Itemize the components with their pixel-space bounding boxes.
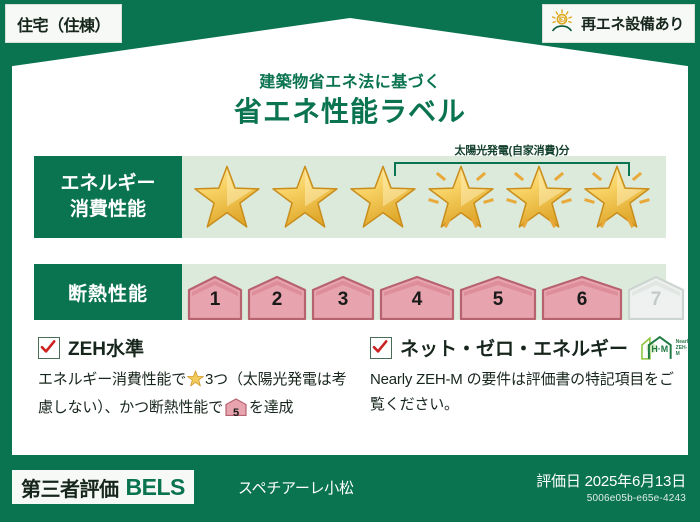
energy-performance-label-box: エネルギー 消費性能	[34, 156, 182, 238]
star-cell-4	[422, 156, 500, 238]
house-cell-2: 2	[246, 274, 308, 320]
insulation-performance-row: 断熱性能 1	[34, 264, 666, 320]
house-level-3: 3	[338, 289, 349, 311]
gold-star-icon	[271, 164, 339, 230]
criterion-zeh-star-count: 3つ	[205, 371, 228, 388]
criterion-nze-title: ネット・ゼロ・エネルギー	[400, 334, 628, 361]
insulation-label-box: 断熱性能	[34, 264, 182, 320]
gold-star-icon	[427, 164, 495, 230]
house-level-2: 2	[272, 289, 283, 311]
star-cell-2	[266, 156, 344, 238]
house-level-1: 1	[210, 289, 221, 311]
criterion-zeh-header: ZEH水準	[38, 334, 352, 361]
star-cell-1	[188, 156, 266, 238]
gold-star-icon	[187, 370, 204, 395]
insulation-label: 断熱性能	[68, 279, 148, 306]
criterion-zeh-body: エネルギー消費性能で3つ（太陽光発電は考慮しない）、かつ断熱性能で5を達成	[38, 367, 352, 420]
energy-label-line1: エネルギー	[60, 171, 155, 197]
sun-renewable-icon	[549, 8, 575, 39]
renewable-equipment-tag: 再エネ設備あり	[542, 4, 695, 43]
house-cell-1: 1	[186, 274, 244, 320]
house-level-4: 4	[412, 289, 423, 311]
label-body-panel: 建築物省エネ法に基づく 省エネ性能ラベル エネルギー 消費性能 太陽光発電(自家…	[12, 18, 688, 455]
evaluation-id: 5006e05b-e65e-4243	[536, 493, 686, 504]
house-cell-3: 3	[310, 274, 376, 320]
energy-star-track: 太陽光発電(自家消費)分	[182, 156, 666, 238]
energy-label-line2: 消費性能	[70, 197, 146, 223]
check-mark-icon	[370, 337, 392, 359]
evaluation-info: 評価日 2025年6月13日 5006e05b-e65e-4243	[536, 470, 686, 504]
house-level-5: 5	[493, 289, 504, 311]
criterion-net-zero-energy: ネット・ゼロ・エネルギー H·M Nearly ZEH-M	[370, 334, 676, 417]
star-cell-6	[578, 156, 656, 238]
criterion-zeh-text-3: を達成	[249, 399, 293, 416]
criterion-nze-header: ネット・ゼロ・エネルギー H·M Nearly ZEH-M	[370, 334, 676, 361]
gold-star-icon	[193, 164, 261, 230]
star-cell-5	[500, 156, 578, 238]
house-cell-4: 4	[378, 274, 456, 320]
gold-star-icon	[505, 164, 573, 230]
house-cell-7: 7	[626, 274, 686, 320]
energy-performance-label: 住宅（住棟） 再エネ設備あり 建築物省エネ	[0, 0, 700, 522]
category-tag-label: 住宅（住棟）	[17, 12, 110, 36]
house-level-6: 6	[577, 289, 588, 311]
evaluation-date: 評価日 2025年6月13日	[536, 470, 686, 491]
star-list	[182, 156, 666, 238]
criterion-zeh: ZEH水準 エネルギー消費性能で3つ（太陽光発電は考慮しない）、かつ断熱性能で5…	[38, 334, 352, 420]
zeh-logo-caption-2: ZEH-M	[676, 345, 692, 357]
bels-label: BELS	[126, 474, 185, 501]
house-cell-5: 5	[458, 274, 538, 320]
criterion-nze-body: Nearly ZEH-M の要件は評価書の特記項目をご覧ください。	[370, 367, 676, 417]
criterion-zeh-title: ZEH水準	[68, 334, 144, 361]
gold-star-icon	[583, 164, 651, 230]
bels-badge: 第三者評価 BELS	[12, 470, 194, 504]
svg-text:H·M: H·M	[651, 343, 668, 353]
insulation-house-track: 1 2	[182, 264, 666, 320]
footer: 第三者評価 BELS スペチアーレ小松 評価日 2025年6月13日 5006e…	[0, 462, 700, 522]
title-sub: 建築物省エネ法に基づく	[12, 68, 688, 92]
page-title: 省エネ性能ラベル	[12, 90, 688, 130]
house-level-7: 7	[651, 289, 662, 311]
house-list: 1 2	[182, 264, 666, 320]
gold-star-icon	[349, 164, 417, 230]
third-party-eval-label: 第三者評価	[21, 473, 119, 502]
star-cell-3	[344, 156, 422, 238]
criterion-zeh-text-1: エネルギー消費性能で	[38, 371, 186, 388]
house-cell-6: 6	[540, 274, 624, 320]
criterion-zeh-house-level: 5	[225, 401, 247, 426]
nearly-zeh-m-logo: H·M Nearly ZEH-M	[640, 335, 691, 361]
check-mark-icon	[38, 337, 60, 359]
renewable-tag-label: 再エネ設備あり	[581, 13, 684, 34]
building-name: スペチアーレ小松	[238, 477, 354, 498]
category-tag: 住宅（住棟）	[5, 4, 122, 43]
energy-performance-row: エネルギー 消費性能 太陽光発電(自家消費)分	[34, 156, 666, 238]
house-grade-icon: 5	[225, 398, 247, 416]
